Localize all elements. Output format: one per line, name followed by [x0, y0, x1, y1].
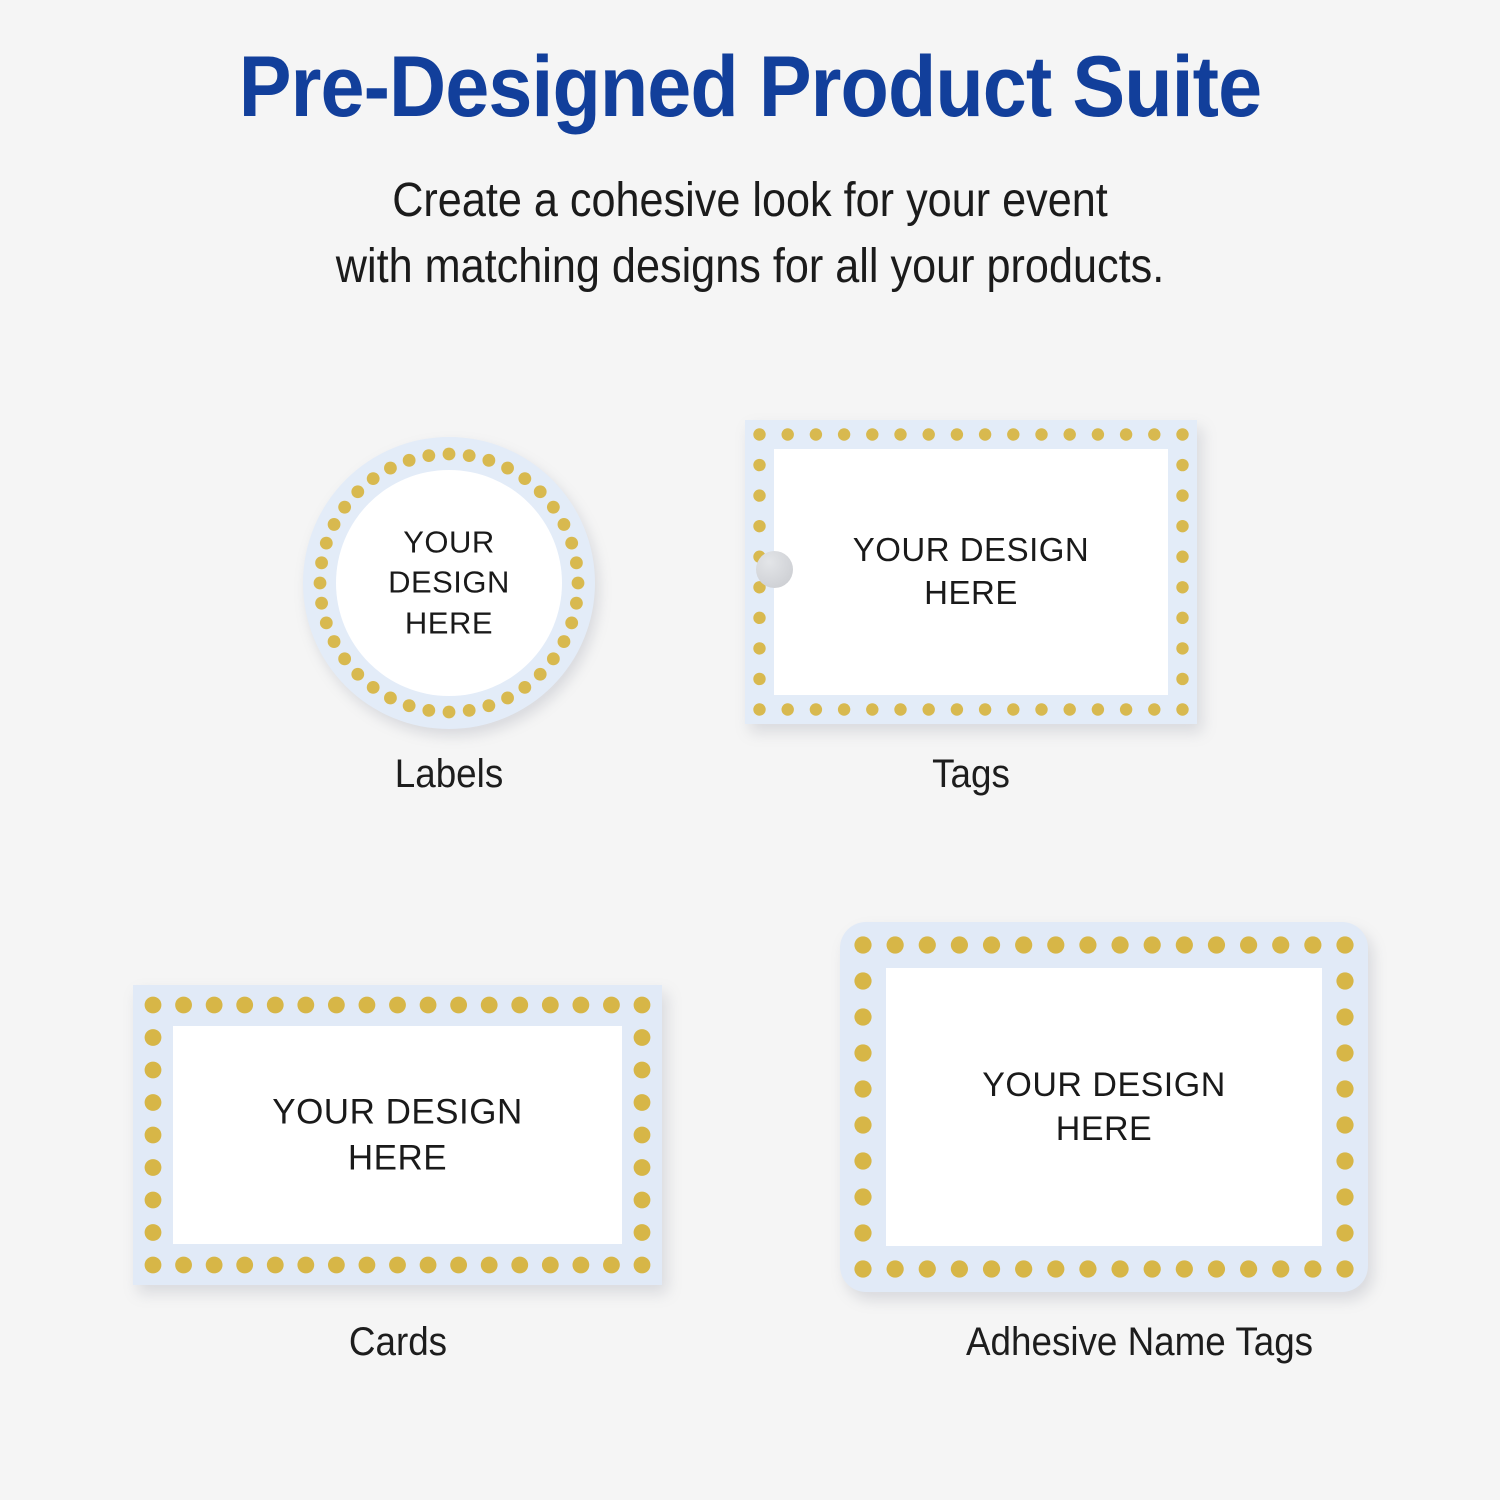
product-suite-graphic: Pre-Designed Product Suite Create a cohe…	[0, 0, 1500, 1500]
subtitle-line-2: with matching designs for all your produ…	[75, 234, 1425, 300]
tags-white-panel	[774, 449, 1168, 695]
tags-hole-punch-icon	[756, 551, 793, 588]
nametags-white-panel	[886, 968, 1322, 1246]
caption-tags: Tags	[833, 752, 1109, 797]
caption-nametags: Adhesive Name Tags	[966, 1320, 1242, 1365]
product-labels-artwork[interactable]: YOUR DESIGN HERE	[303, 437, 595, 729]
product-tags-artwork[interactable]: YOUR DESIGN HERE	[745, 420, 1197, 724]
cards-white-panel	[173, 1026, 622, 1244]
page-subtitle: Create a cohesive look for your event wi…	[75, 168, 1425, 300]
product-cards-artwork[interactable]: YOUR DESIGN HERE	[133, 985, 662, 1285]
caption-labels: Labels	[311, 752, 587, 797]
page-title: Pre-Designed Product Suite	[60, 42, 1440, 132]
subtitle-line-1: Create a cohesive look for your event	[75, 168, 1425, 234]
product-nametags-artwork[interactable]: YOUR DESIGN HERE	[840, 922, 1368, 1292]
labels-gold-dot-border	[303, 437, 595, 729]
caption-cards: Cards	[260, 1320, 536, 1365]
